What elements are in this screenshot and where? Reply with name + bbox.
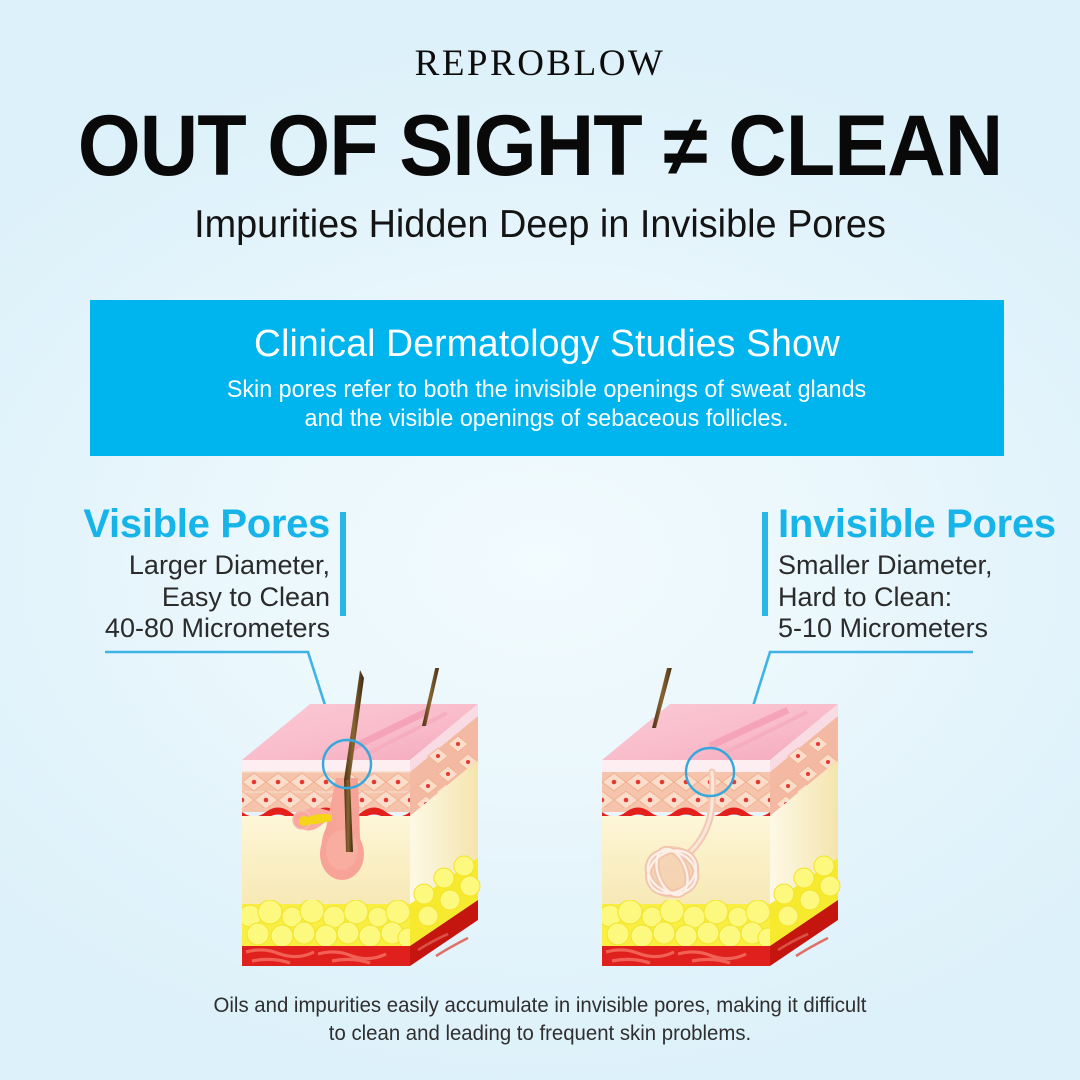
visible-pores-line-3: 40-80 Micrometers (60, 613, 330, 644)
invisible-pores-title: Invisible Pores (778, 503, 1068, 546)
footer-line-2: to clean and leading to frequent skin pr… (16, 1020, 1064, 1048)
visible-pores-label-block: Visible Pores Larger Diameter, Easy to C… (60, 503, 346, 644)
invisible-pores-line-1: Smaller Diameter, (778, 550, 1068, 581)
footer-line-1: Oils and impurities easily accumulate in… (16, 992, 1064, 1020)
banner-title: Clinical Dermatology Studies Show (254, 323, 840, 366)
page-subtitle: Impurities Hidden Deep in Invisible Pore… (16, 204, 1064, 247)
accent-bar-right (762, 512, 768, 616)
invisible-pores-label-block: Invisible Pores Smaller Diameter, Hard t… (762, 503, 1068, 644)
clinical-banner: Clinical Dermatology Studies Show Skin p… (90, 300, 1004, 456)
footer-caption: Oils and impurities easily accumulate in… (16, 992, 1064, 1049)
accent-bar-left (340, 512, 346, 616)
poster-canvas: REPROBLOW OUT OF SIGHT ≠ CLEAN Impuritie… (0, 0, 1080, 1080)
banner-description-line-2: and the visible openings of sebaceous fo… (227, 404, 866, 433)
visible-pores-title: Visible Pores (60, 503, 330, 546)
brand-logo: REPROBLOW (0, 42, 1080, 85)
visible-pores-line-2: Easy to Clean (60, 582, 330, 613)
visible-pores-line-1: Larger Diameter, (60, 550, 330, 581)
skin-diagram-invisible-pores (592, 668, 842, 968)
page-title: OUT OF SIGHT ≠ CLEAN (0, 104, 1080, 190)
banner-description-line-1: Skin pores refer to both the invisible o… (227, 375, 866, 404)
banner-description: Skin pores refer to both the invisible o… (217, 375, 876, 434)
invisible-pores-line-2: Hard to Clean: (778, 582, 1068, 613)
skin-diagram-visible-pores (232, 668, 482, 968)
invisible-pores-line-3: 5-10 Micrometers (778, 613, 1068, 644)
